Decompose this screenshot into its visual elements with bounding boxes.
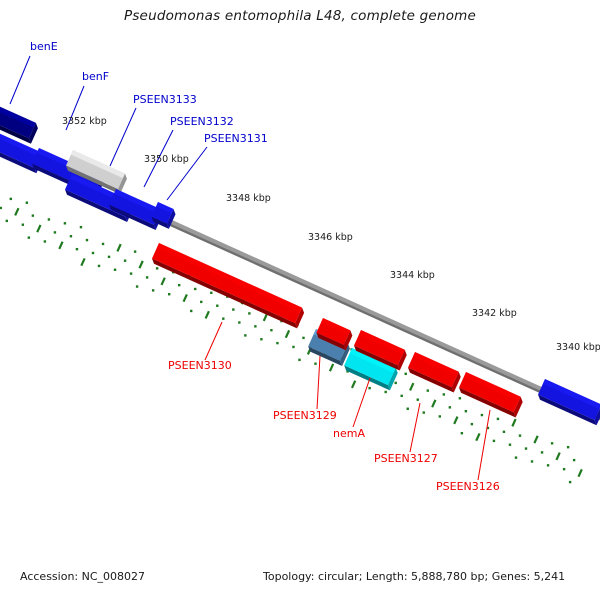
gene-label[interactable]: benE xyxy=(30,40,58,53)
gene-label[interactable]: PSEEN3133 xyxy=(133,93,197,106)
ruler-tick-label: 3348 kbp xyxy=(226,193,271,204)
gene-feature[interactable] xyxy=(150,243,305,328)
topology-label: Topology: circular; Length: 5,888,780 bp… xyxy=(263,570,565,583)
status-bar: Accession: NC_008027 Topology: circular;… xyxy=(0,570,600,594)
ruler-tick-label: 3344 kbp xyxy=(390,270,435,281)
gene-label[interactable]: PSEEN3130 xyxy=(168,359,232,372)
ruler-tick-label: 3342 kbp xyxy=(472,308,517,319)
genome-map-canvas: benEbenFPSEEN3133PSEEN3132PSEEN3131PSEEN… xyxy=(0,0,600,600)
ruler-tick-label: 3346 kbp xyxy=(308,232,353,243)
gene-feature[interactable] xyxy=(536,379,600,425)
gene-label[interactable]: PSEEN3127 xyxy=(374,452,438,465)
gene-label[interactable]: PSEEN3129 xyxy=(273,409,337,422)
gene-label[interactable]: nemA xyxy=(333,427,365,440)
gene-feature[interactable] xyxy=(406,352,462,393)
ruler-tick-label: 3352 kbp xyxy=(62,116,107,127)
ruler-labels-layer: 3352 kbp3350 kbp3348 kbp3346 kbp3344 kbp… xyxy=(62,116,600,353)
gene-label[interactable]: PSEEN3126 xyxy=(436,480,500,493)
genome-map-viewer: Pseudomonas entomophila L48, complete ge… xyxy=(0,0,600,600)
accession-label: Accession: NC_008027 xyxy=(20,570,145,583)
tick-marks-layer xyxy=(0,175,582,484)
gene-label[interactable]: PSEEN3132 xyxy=(170,115,234,128)
gene-label[interactable]: PSEEN3131 xyxy=(204,132,268,145)
ruler-tick-label: 3340 kbp xyxy=(556,342,600,353)
gene-label[interactable]: benF xyxy=(82,70,109,83)
ruler-tick-label: 3350 kbp xyxy=(144,154,189,165)
